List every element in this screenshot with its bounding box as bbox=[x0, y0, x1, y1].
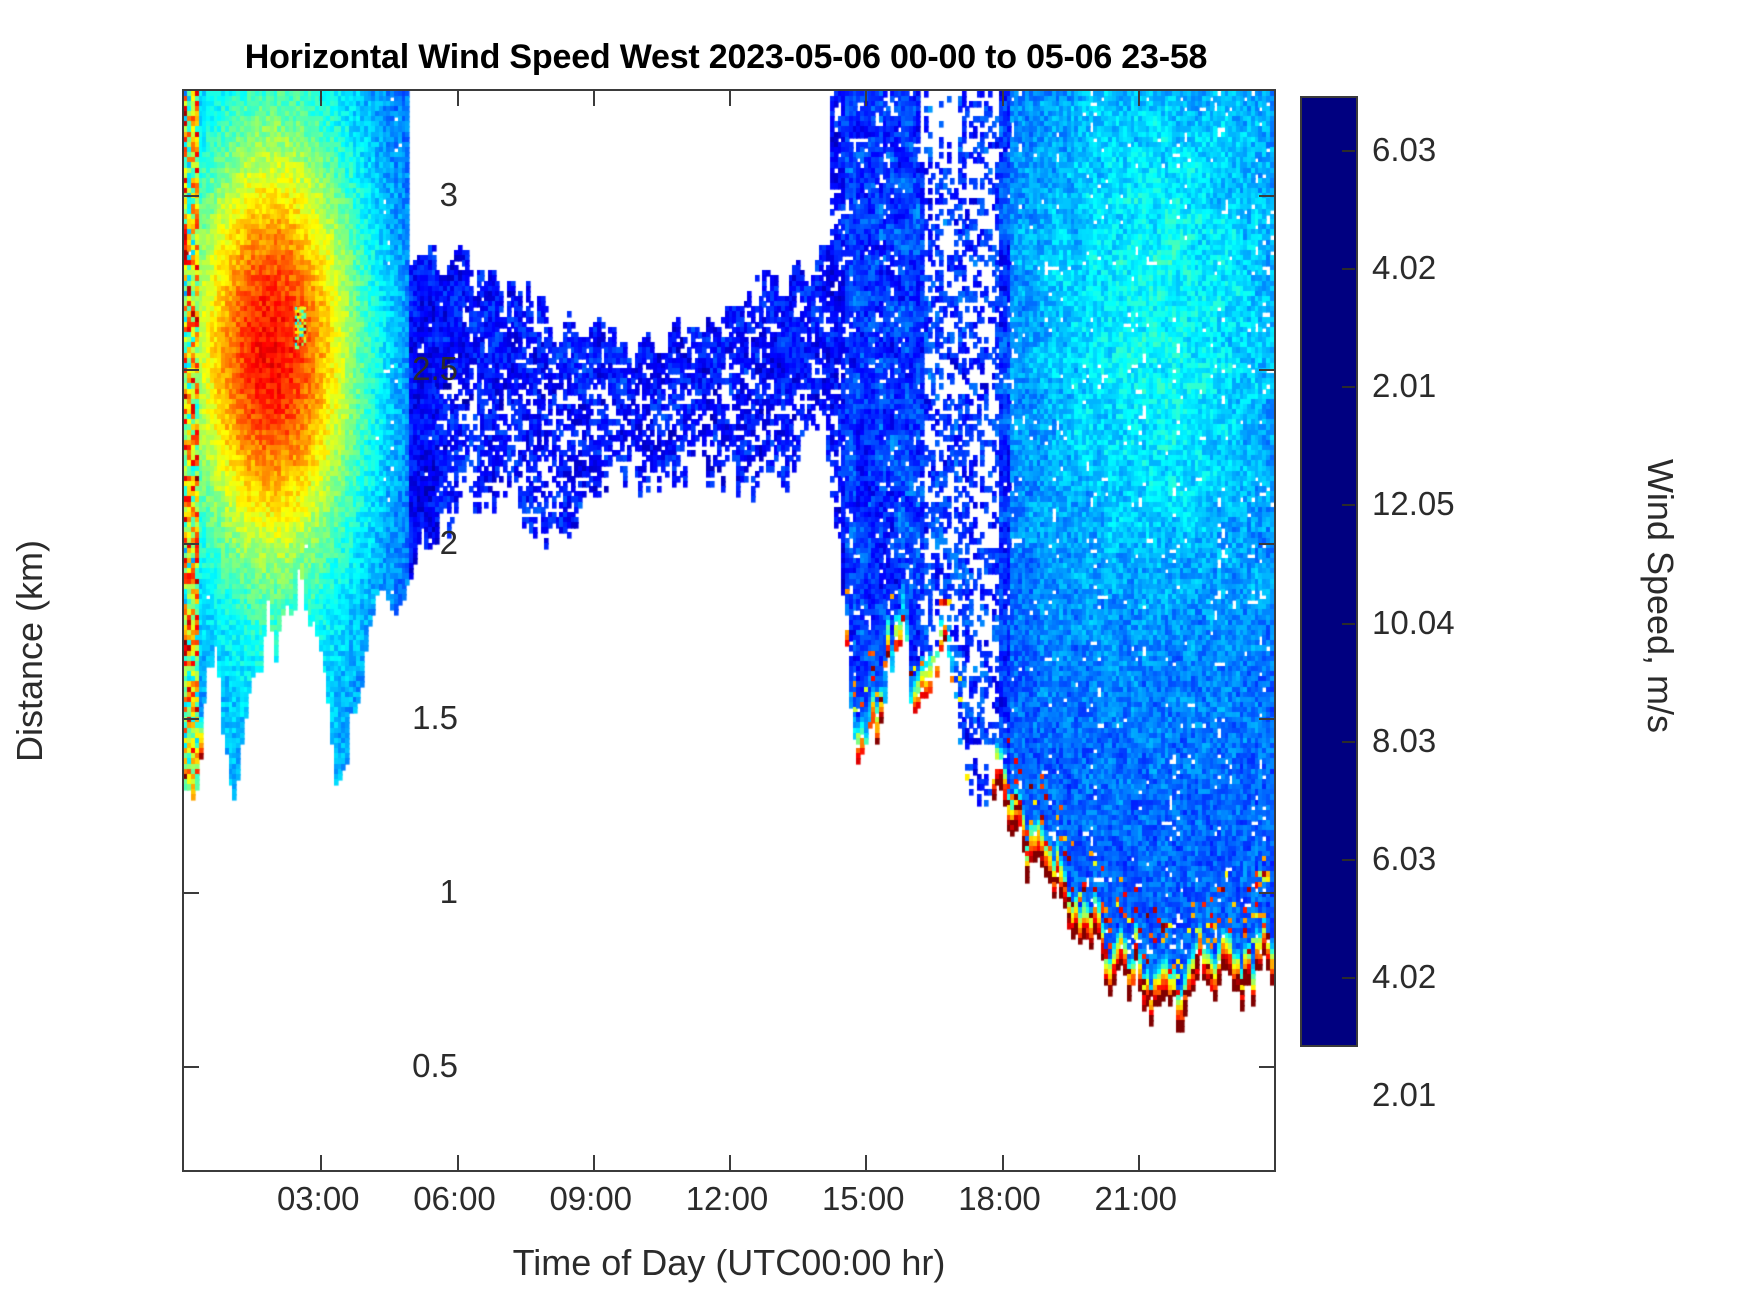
x-axis-tick bbox=[593, 90, 595, 106]
colorbar-tick-label: 8.03 bbox=[1372, 722, 1436, 760]
colorbar-tick-label: 12.05 bbox=[1372, 485, 1455, 523]
y-axis-tick-label: 2.5 bbox=[412, 350, 458, 388]
x-axis-tick-label: 15:00 bbox=[822, 1180, 905, 1218]
y-axis-tick-label: 1 bbox=[440, 873, 458, 911]
colorbar-axis-label: Wind Speed, m/s bbox=[1639, 316, 1681, 876]
x-axis-tick-label: 12:00 bbox=[686, 1180, 769, 1218]
y-axis-tick bbox=[1259, 892, 1275, 894]
wind-speed-heatmap bbox=[184, 91, 1274, 1170]
y-axis-tick bbox=[1259, 543, 1275, 545]
y-axis-tick bbox=[183, 1066, 199, 1068]
x-axis-label: Time of Day (UTC00:00 hr) bbox=[182, 1242, 1276, 1284]
y-axis-tick bbox=[183, 543, 199, 545]
x-axis-tick bbox=[1138, 90, 1140, 106]
x-axis-tick bbox=[729, 90, 731, 106]
x-axis-tick-label: 09:00 bbox=[549, 1180, 632, 1218]
colorbar-tick bbox=[1342, 623, 1355, 625]
y-axis-tick bbox=[1259, 195, 1275, 197]
y-axis-tick bbox=[1259, 369, 1275, 371]
colorbar-tick-label: 6.03 bbox=[1372, 131, 1436, 169]
x-axis-tick bbox=[457, 1155, 459, 1171]
x-axis-tick bbox=[1002, 1155, 1004, 1171]
colorbar-tick-label: 4.02 bbox=[1372, 249, 1436, 287]
y-axis-tick-label: 3 bbox=[440, 176, 458, 214]
colorbar-tick bbox=[1342, 741, 1355, 743]
colorbar-tick bbox=[1342, 504, 1355, 506]
y-axis-tick bbox=[183, 892, 199, 894]
y-axis-tick bbox=[183, 195, 199, 197]
x-axis-tick bbox=[320, 90, 322, 106]
colorbar[interactable] bbox=[1300, 96, 1358, 1047]
x-axis-tick bbox=[865, 90, 867, 106]
y-axis-label: Distance (km) bbox=[9, 311, 51, 991]
x-axis-tick bbox=[320, 1155, 322, 1171]
x-axis-tick bbox=[865, 1155, 867, 1171]
colorbar-tick-label: 2.01 bbox=[1372, 1076, 1436, 1114]
page-title: Horizontal Wind Speed West 2023-05-06 00… bbox=[0, 38, 1452, 77]
y-axis-tick-label: 1.5 bbox=[412, 699, 458, 737]
colorbar-gradient bbox=[1302, 98, 1356, 1045]
x-axis-tick bbox=[1002, 90, 1004, 106]
y-axis-tick bbox=[183, 718, 199, 720]
x-axis-tick bbox=[729, 1155, 731, 1171]
y-axis-tick bbox=[1259, 718, 1275, 720]
colorbar-tick bbox=[1342, 150, 1355, 152]
plot-axes-area bbox=[182, 89, 1276, 1172]
colorbar-tick bbox=[1342, 268, 1355, 270]
x-axis-tick-label: 03:00 bbox=[277, 1180, 360, 1218]
y-axis-tick-label: 2 bbox=[440, 524, 458, 562]
figure-canvas: Horizontal Wind Speed West 2023-05-06 00… bbox=[0, 0, 1750, 1313]
colorbar-tick-label: 6.03 bbox=[1372, 840, 1436, 878]
y-axis-tick-label: 0.5 bbox=[412, 1047, 458, 1085]
x-axis-tick bbox=[457, 90, 459, 106]
colorbar-tick-label: 2.01 bbox=[1372, 367, 1436, 405]
x-axis-tick-label: 18:00 bbox=[958, 1180, 1041, 1218]
x-axis-tick-label: 21:00 bbox=[1094, 1180, 1177, 1218]
colorbar-tick-label: 4.02 bbox=[1372, 958, 1436, 996]
colorbar-tick bbox=[1342, 386, 1355, 388]
x-axis-tick-label: 06:00 bbox=[413, 1180, 496, 1218]
x-axis-tick bbox=[593, 1155, 595, 1171]
colorbar-tick bbox=[1342, 977, 1355, 979]
y-axis-tick bbox=[183, 369, 199, 371]
y-axis-tick bbox=[1259, 1066, 1275, 1068]
x-axis-tick bbox=[1138, 1155, 1140, 1171]
colorbar-tick-label: 10.04 bbox=[1372, 604, 1455, 642]
colorbar-tick bbox=[1342, 859, 1355, 861]
